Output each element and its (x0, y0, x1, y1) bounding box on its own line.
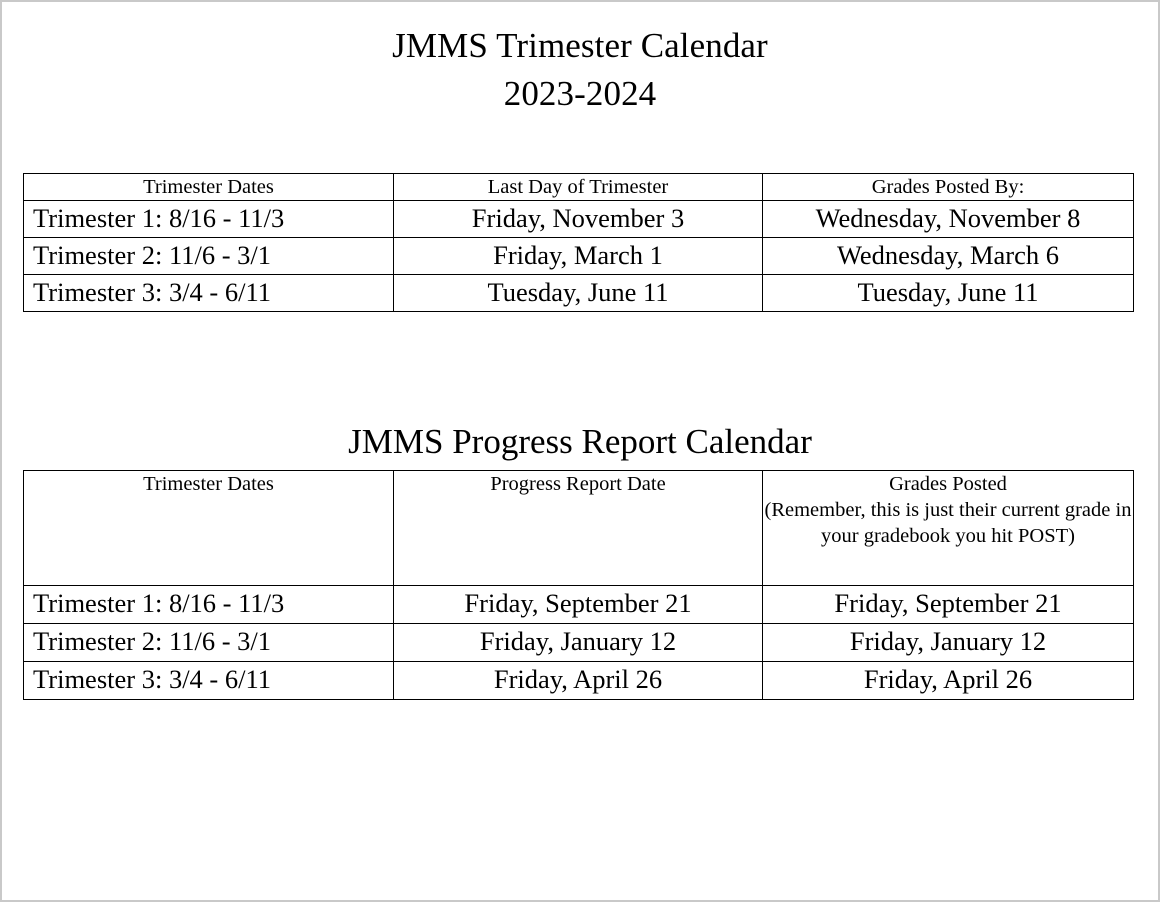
page-title-line-2: 2023-2024 (0, 70, 1160, 118)
table-header-row: Trimester Dates Progress Report Date Gra… (24, 471, 1134, 586)
cell-progress-trimester-3-grades-posted: Friday, April 26 (763, 662, 1134, 700)
progress-report-section-title: JMMS Progress Report Calendar (0, 419, 1160, 465)
cell-trimester-1-dates: Trimester 1: 8/16 - 11/3 (24, 201, 394, 238)
cell-progress-trimester-3-dates: Trimester 3: 3/4 - 6/11 (24, 662, 394, 700)
table-row: Trimester 2: 11/6 - 3/1 Friday, January … (24, 624, 1134, 662)
column-header-grades-posted-by: Grades Posted By: (763, 174, 1134, 201)
cell-progress-trimester-1-grades-posted: Friday, September 21 (763, 586, 1134, 624)
table-row: Trimester 3: 3/4 - 6/11 Friday, April 26… (24, 662, 1134, 700)
cell-progress-trimester-2-report-date: Friday, January 12 (394, 624, 763, 662)
cell-trimester-1-last-day: Friday, November 3 (394, 201, 763, 238)
table-header-row: Trimester Dates Last Day of Trimester Gr… (24, 174, 1134, 201)
table-row: Trimester 3: 3/4 - 6/11 Tuesday, June 11… (24, 275, 1134, 312)
cell-progress-trimester-1-dates: Trimester 1: 8/16 - 11/3 (24, 586, 394, 624)
column-header-progress-report-date: Progress Report Date (394, 471, 763, 586)
page-title-line-1: JMMS Trimester Calendar (0, 22, 1160, 70)
column-header-trimester-dates: Trimester Dates (24, 471, 394, 586)
cell-trimester-3-grades-posted-by: Tuesday, June 11 (763, 275, 1134, 312)
column-header-grades-posted-note: Grades Posted (Remember, this is just th… (763, 471, 1134, 586)
document-page: JMMS Trimester Calendar 2023-2024 Trimes… (0, 0, 1160, 902)
cell-trimester-1-grades-posted-by: Wednesday, November 8 (763, 201, 1134, 238)
table-row: Trimester 1: 8/16 - 11/3 Friday, Novembe… (24, 201, 1134, 238)
cell-trimester-2-dates: Trimester 2: 11/6 - 3/1 (24, 238, 394, 275)
cell-progress-trimester-2-dates: Trimester 2: 11/6 - 3/1 (24, 624, 394, 662)
progress-report-calendar-table: Trimester Dates Progress Report Date Gra… (23, 470, 1134, 700)
column-header-last-day-of-trimester: Last Day of Trimester (394, 174, 763, 201)
cell-trimester-2-last-day: Friday, March 1 (394, 238, 763, 275)
cell-progress-trimester-2-grades-posted: Friday, January 12 (763, 624, 1134, 662)
document-title-block: JMMS Trimester Calendar 2023-2024 (0, 22, 1160, 118)
cell-trimester-2-grades-posted-by: Wednesday, March 6 (763, 238, 1134, 275)
cell-trimester-3-last-day: Tuesday, June 11 (394, 275, 763, 312)
cell-progress-trimester-1-report-date: Friday, September 21 (394, 586, 763, 624)
table-row: Trimester 2: 11/6 - 3/1 Friday, March 1 … (24, 238, 1134, 275)
table-row: Trimester 1: 8/16 - 11/3 Friday, Septemb… (24, 586, 1134, 624)
trimester-calendar-table: Trimester Dates Last Day of Trimester Gr… (23, 173, 1134, 312)
cell-progress-trimester-3-report-date: Friday, April 26 (394, 662, 763, 700)
column-header-trimester-dates: Trimester Dates (24, 174, 394, 201)
cell-trimester-3-dates: Trimester 3: 3/4 - 6/11 (24, 275, 394, 312)
